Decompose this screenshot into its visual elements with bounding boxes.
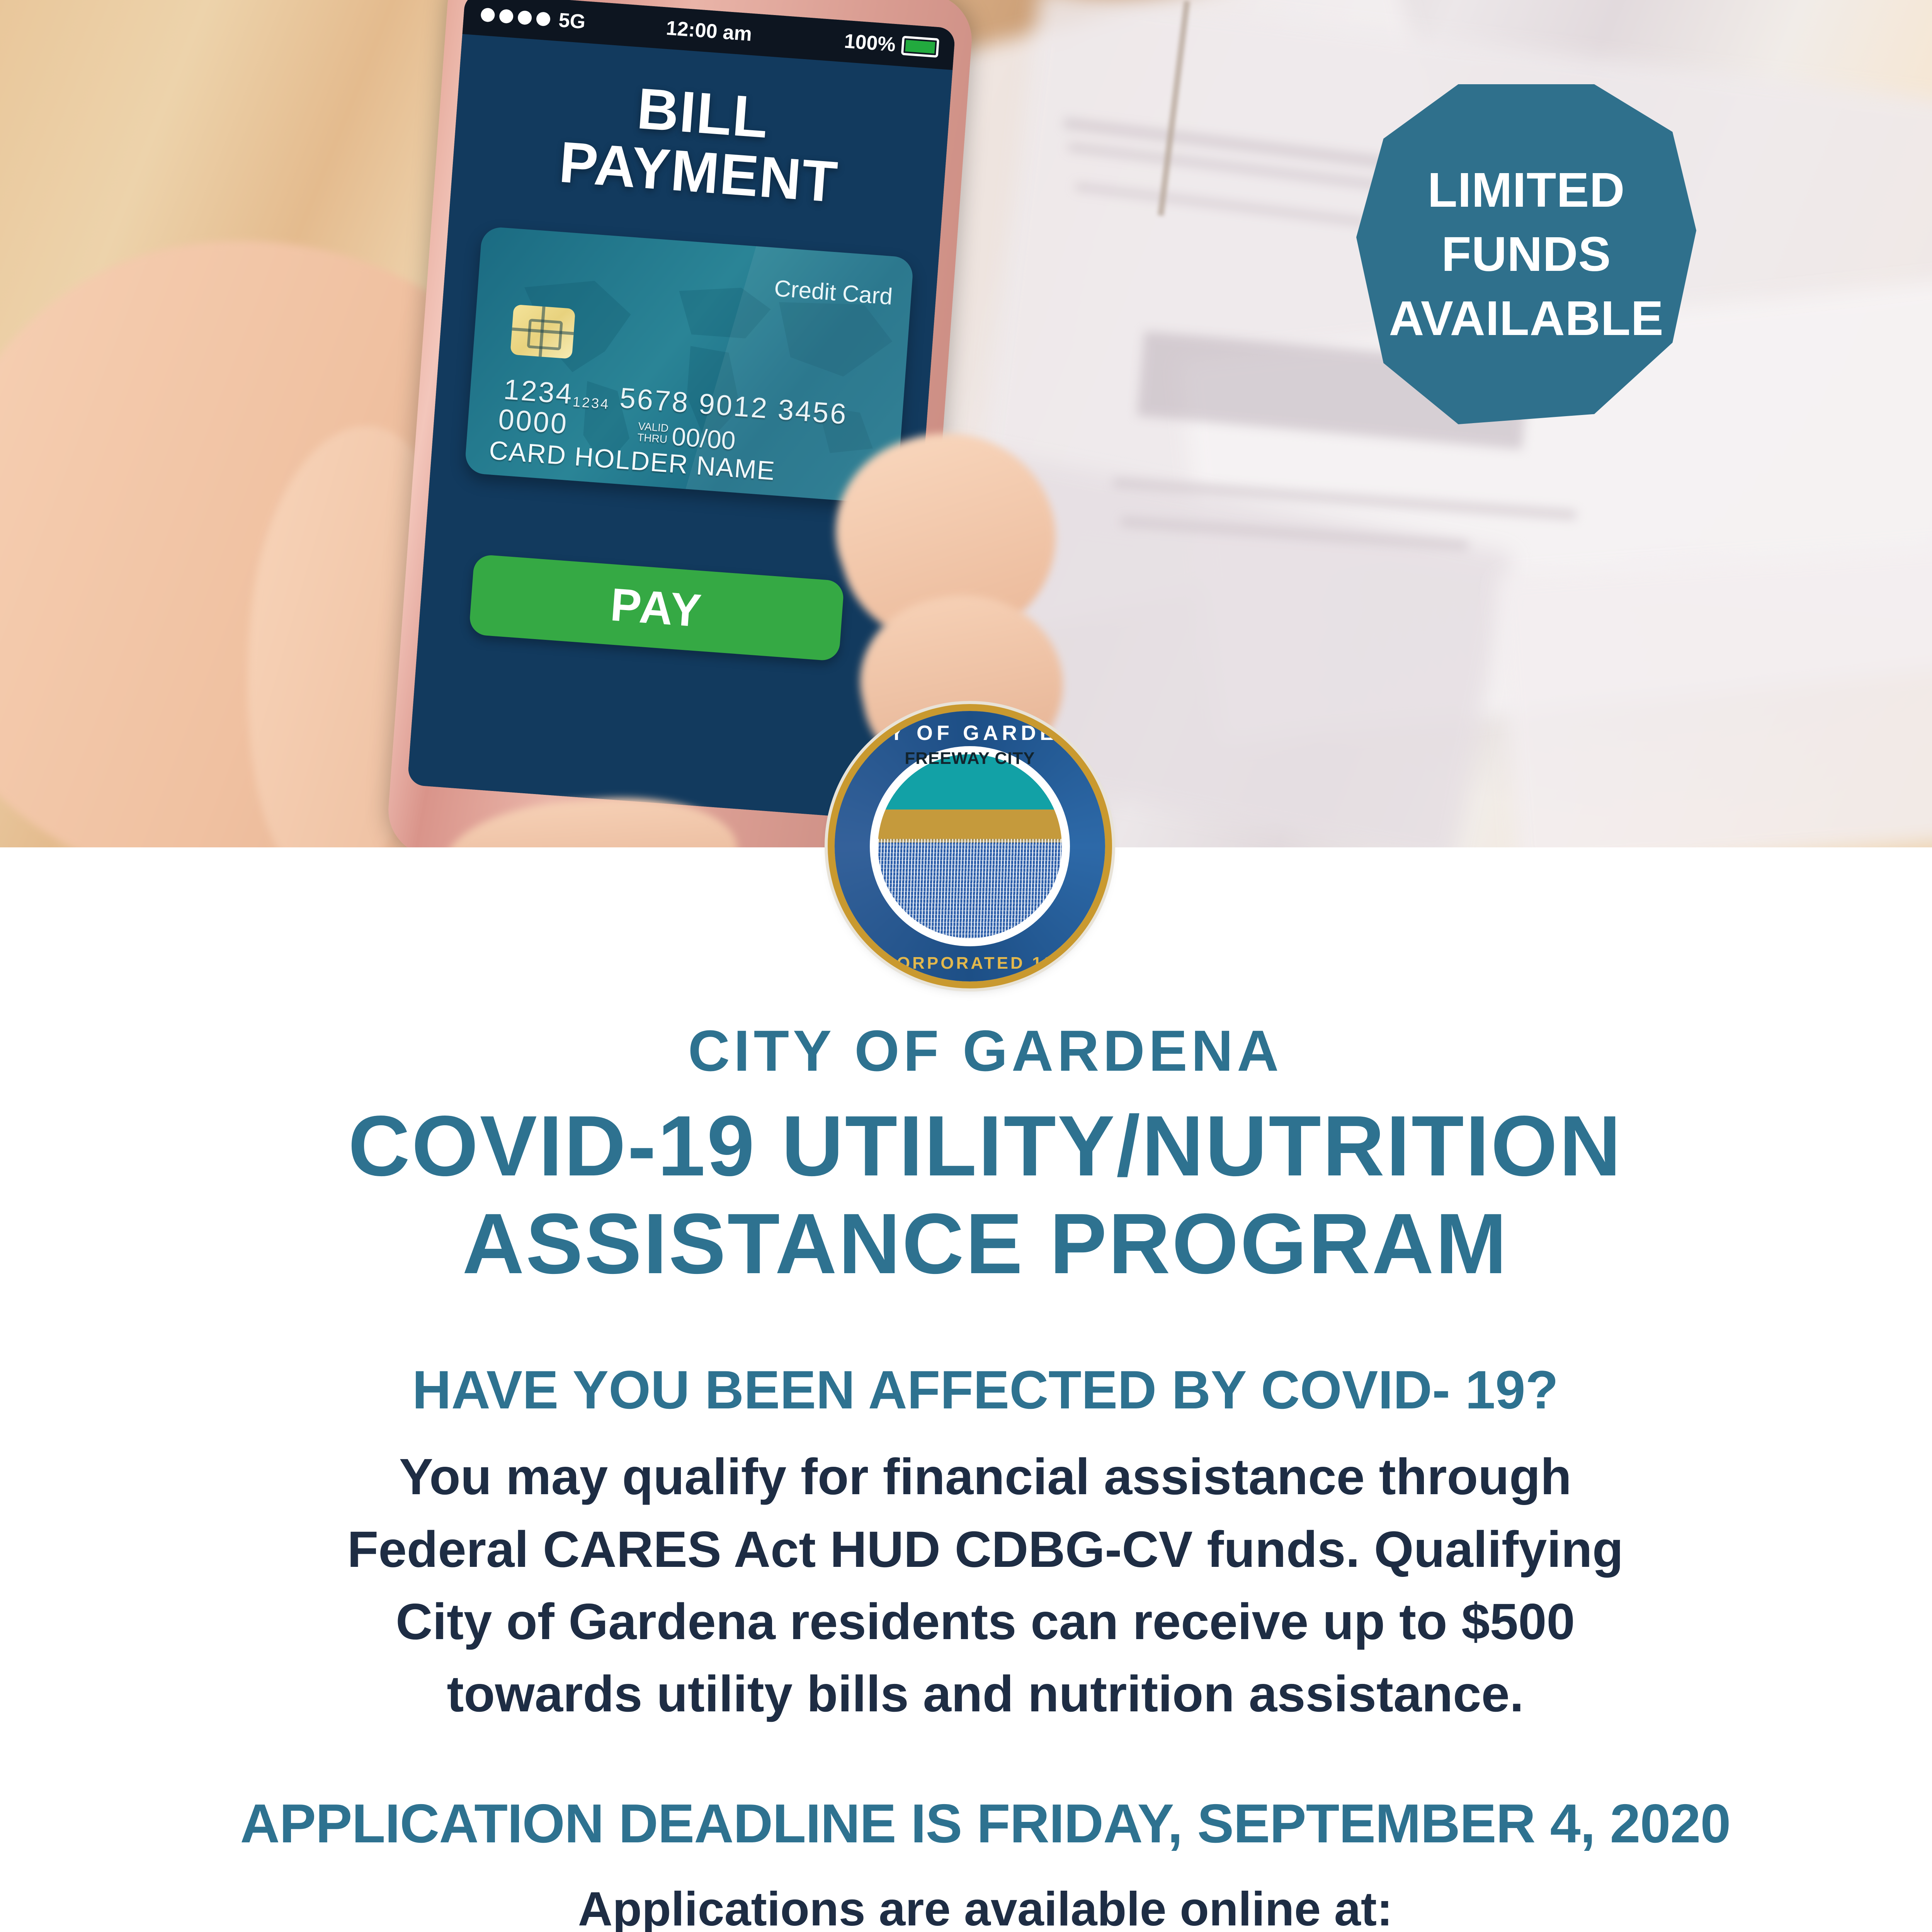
description-paragraph: You may qualify for financial assistance…	[0, 1440, 1932, 1730]
pay-button[interactable]: PAY	[469, 554, 845, 662]
applications-block: Applications are available online at: ww…	[0, 1877, 1932, 1932]
seal-center-text: FREEWAY CITY	[835, 749, 1105, 768]
signal-indicator: 5G	[480, 3, 586, 34]
network-label: 5G	[558, 9, 587, 34]
page-title: COVID-19 UTILITY/NUTRITION ASSISTANCE PR…	[0, 1097, 1932, 1293]
battery-icon	[901, 36, 939, 58]
card-chip-icon	[510, 304, 575, 359]
page-title-line2: ASSISTANCE PROGRAM	[0, 1195, 1932, 1293]
description-line4: towards utility bills and nutrition assi…	[0, 1658, 1932, 1730]
clock-label: 12:00 am	[665, 17, 753, 46]
deadline-heading: APPLICATION DEADLINE IS FRIDAY, SEPTEMBE…	[0, 1792, 1932, 1855]
document-paper	[1497, 543, 1932, 847]
battery-percent-label: 100%	[844, 30, 896, 57]
badge-line-2: FUNDS	[1442, 222, 1611, 286]
phone-status-bar: 5G 12:00 am 100%	[463, 0, 956, 70]
app-title: BILL PAYMENT	[451, 66, 950, 219]
signal-dot-icon	[480, 7, 495, 22]
battery-indicator: 100%	[844, 30, 940, 60]
description-line3: City of Gardena residents can receive up…	[0, 1585, 1932, 1658]
description-line2: Federal CARES Act HUD CDBG-CV funds. Qua…	[0, 1513, 1932, 1585]
signal-dot-icon	[536, 12, 551, 27]
badge-line-3: AVAILABLE	[1389, 286, 1663, 350]
card-type-label: Credit Card	[773, 275, 893, 310]
seal-top-text: CITY OF GARDENA	[835, 721, 1105, 745]
credit-card: Credit Card 12341234 5678 9012 3456 0000…	[464, 226, 914, 504]
question-heading: HAVE YOU BEEN AFFECTED BY COVID- 19?	[0, 1359, 1932, 1421]
badge-line-1: LIMITED	[1428, 158, 1625, 222]
city-name-heading: CITY OF GARDENA	[0, 1017, 1932, 1084]
description-line1: You may qualify for financial assistance…	[0, 1440, 1932, 1513]
valid-thru-label: VALID THRU	[637, 420, 669, 445]
signal-dot-icon	[517, 10, 532, 25]
applications-label: Applications are available online at:	[0, 1877, 1932, 1932]
signal-dot-icon	[499, 9, 514, 24]
page-title-line1: COVID-19 UTILITY/NUTRITION	[0, 1097, 1932, 1195]
flyer-body: CITY OF GARDENA COVID-19 UTILITY/NUTRITI…	[0, 847, 1932, 1932]
card-number-row2: 0000	[497, 403, 569, 440]
